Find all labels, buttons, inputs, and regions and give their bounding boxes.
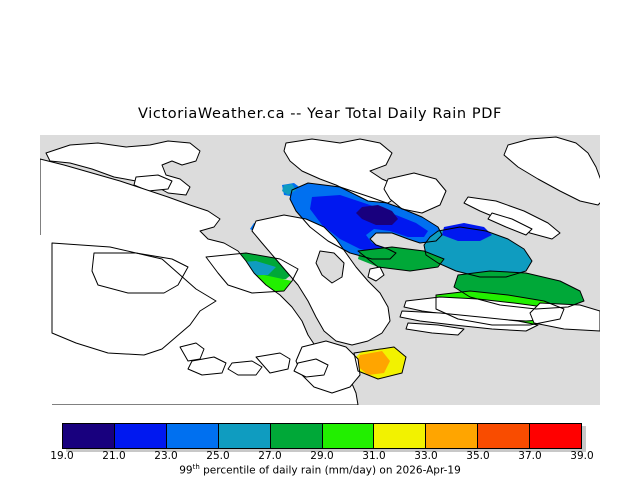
land-bottom-left-white [40, 235, 52, 405]
colorbar-segment-2[interactable] [167, 424, 219, 448]
colorbar-segment-6[interactable] [374, 424, 426, 448]
colorbar-tick-6: 31.0 [362, 450, 385, 462]
colorbar-tick-9: 37.0 [518, 450, 541, 462]
map-svg [40, 135, 600, 405]
rain-pdf-figure: VictoriaWeather.ca -- Year Total Daily R… [0, 0, 640, 480]
colorbar-caption-prefix: 99 [179, 465, 192, 477]
colorbar-segment-4[interactable] [271, 424, 323, 448]
colorbar-segment-5[interactable] [323, 424, 375, 448]
colorbar-segment-8[interactable] [478, 424, 530, 448]
colorbar-caption-suffix: percentile of daily rain (mm/day) on 202… [200, 465, 461, 477]
colorbar-tick-0: 19.0 [50, 450, 73, 462]
colorbar-caption-superscript: th [193, 463, 200, 471]
colorbar-tick-4: 27.0 [258, 450, 281, 462]
colorbar-panel: 19.021.023.025.027.029.031.033.035.037.0… [40, 422, 600, 478]
map-panel[interactable] [40, 135, 600, 405]
colorbar-tick-7: 33.0 [414, 450, 437, 462]
colorbar-tick-5: 29.0 [310, 450, 333, 462]
colorbar-tick-3: 25.0 [206, 450, 229, 462]
colorbar-tick-2: 23.0 [154, 450, 177, 462]
colorbar-tick-1: 21.0 [102, 450, 125, 462]
colorbar-segment-3[interactable] [219, 424, 271, 448]
colorbar-tick-10: 39.0 [570, 450, 593, 462]
colorbar-segment-1[interactable] [115, 424, 167, 448]
colorbar-caption: 99th percentile of daily rain (mm/day) o… [40, 463, 600, 477]
page-title: VictoriaWeather.ca -- Year Total Daily R… [0, 106, 640, 122]
colorbar[interactable] [62, 423, 582, 449]
colorbar-segment-7[interactable] [426, 424, 478, 448]
colorbar-segment-9[interactable] [530, 424, 581, 448]
colorbar-tick-8: 35.0 [466, 450, 489, 462]
colorbar-tick-labels: 19.021.023.025.027.029.031.033.035.037.0… [40, 450, 600, 464]
colorbar-segment-0[interactable] [63, 424, 115, 448]
